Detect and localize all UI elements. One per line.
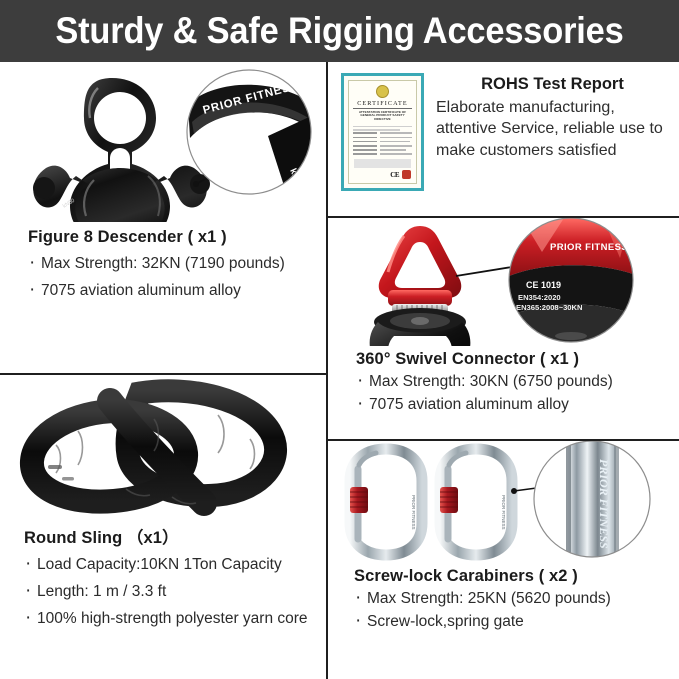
page-title: Sturdy & Safe Rigging Accessories [55, 10, 623, 52]
list-item: 7075 aviation aluminum alloy [28, 281, 326, 301]
swivel-bullets: Max Strength: 30KN (6750 pounds) 7075 av… [356, 372, 679, 415]
swivel-callout-brand: PRIOR FITNESS [550, 242, 628, 253]
carabiner-2-engraving: PRIOR FITNESS [501, 495, 506, 530]
carabiners-text-block: Screw-lock Carabiners ( x2 ) Max Strengt… [354, 567, 679, 632]
certificate-heading: CERTIFICATE [353, 100, 412, 109]
rohs-body-text: Elaborate manufacturing, attentive Servi… [436, 97, 669, 161]
figure-8-text-block: Figure 8 Descender ( x1 ) Max Strength: … [28, 228, 326, 301]
infographic-page: Sturdy & Safe Rigging Accessories [0, 0, 679, 679]
certificate-seal-icon [376, 85, 389, 98]
carabiner-callout-engraving: PRIOR FITNESS [597, 459, 611, 549]
round-sling-title: Round Sling （x1） [24, 524, 326, 548]
carabiners-bullets: Max Strength: 25KN (5620 pounds) Screw-l… [354, 589, 679, 632]
list-item: Max Strength: 30KN (6750 pounds) [356, 372, 679, 392]
list-item: 100% high-strength polyester yarn core [24, 609, 326, 629]
swivel-callout-cert-2: EN354:2020 [518, 293, 561, 302]
certificate-image: CERTIFICATE ATTESTATION CERTIFICATE OF G… [341, 73, 424, 191]
figure-8-title: Figure 8 Descender ( x1 ) [28, 228, 326, 247]
carabiners-image: PRIOR FITNESS PRIOR FITNESS [328, 441, 679, 561]
figure-8-bullets: Max Strength: 32KN (7190 pounds) 7075 av… [28, 254, 326, 301]
list-item: Screw-lock,spring gate [354, 612, 679, 632]
panel-round-sling: Round Sling （x1） Load Capacity:10KN 1Ton… [0, 375, 326, 679]
list-item: Load Capacity:10KN 1Ton Capacity [24, 555, 326, 575]
round-sling-bullets: Load Capacity:10KN 1Ton Capacity Length:… [24, 555, 326, 628]
panel-rohs-test-report: CERTIFICATE ATTESTATION CERTIFICATE OF G… [328, 64, 679, 216]
round-sling-image [0, 375, 326, 520]
list-item: Max Strength: 25KN (5620 pounds) [354, 589, 679, 609]
certification-body-logo-icon [402, 170, 411, 179]
certificate-detail-lines [353, 126, 412, 155]
page-header: Sturdy & Safe Rigging Accessories [0, 0, 679, 62]
rohs-title: ROHS Test Report [436, 75, 669, 94]
round-sling-text-block: Round Sling （x1） Load Capacity:10KN 1Ton… [24, 524, 326, 628]
certificate-subheading: ATTESTATION CERTIFICATE OF GENERAL PRODU… [353, 111, 412, 123]
swivel-text-block: 360° Swivel Connector ( x1 ) Max Strengt… [356, 350, 679, 415]
swivel-connector-image: PRIOR FITNESS CE 1019 EN354:2020 EN365:2… [328, 218, 679, 346]
swivel-title: 360° Swivel Connector ( x1 ) [356, 350, 679, 369]
panel-swivel-connector: PRIOR FITNESS CE 1019 EN354:2020 EN365:2… [328, 218, 679, 439]
panel-screw-lock-carabiners: PRIOR FITNESS PRIOR FITNESS [328, 441, 679, 679]
figure-8-descender-image: kN50 PRIOR FITNESS PRIOR FITNESS kN50 [0, 64, 326, 222]
swivel-callout-cert-3: EN365:2008~30KN [516, 303, 583, 312]
panel-figure-8-descender: kN50 PRIOR FITNESS PRIOR FITNESS kN50 [0, 64, 326, 373]
list-item: Length: 1 m / 3.3 ft [24, 582, 326, 602]
list-item: Max Strength: 32KN (7190 pounds) [28, 254, 326, 274]
list-item: 7075 aviation aluminum alloy [356, 395, 679, 415]
carabiner-1-engraving: PRIOR FITNESS [411, 495, 416, 530]
carabiners-title: Screw-lock Carabiners ( x2 ) [354, 567, 679, 586]
ce-mark-icon: CE [390, 171, 399, 179]
swivel-callout-cert-1: CE 1019 [526, 280, 561, 290]
